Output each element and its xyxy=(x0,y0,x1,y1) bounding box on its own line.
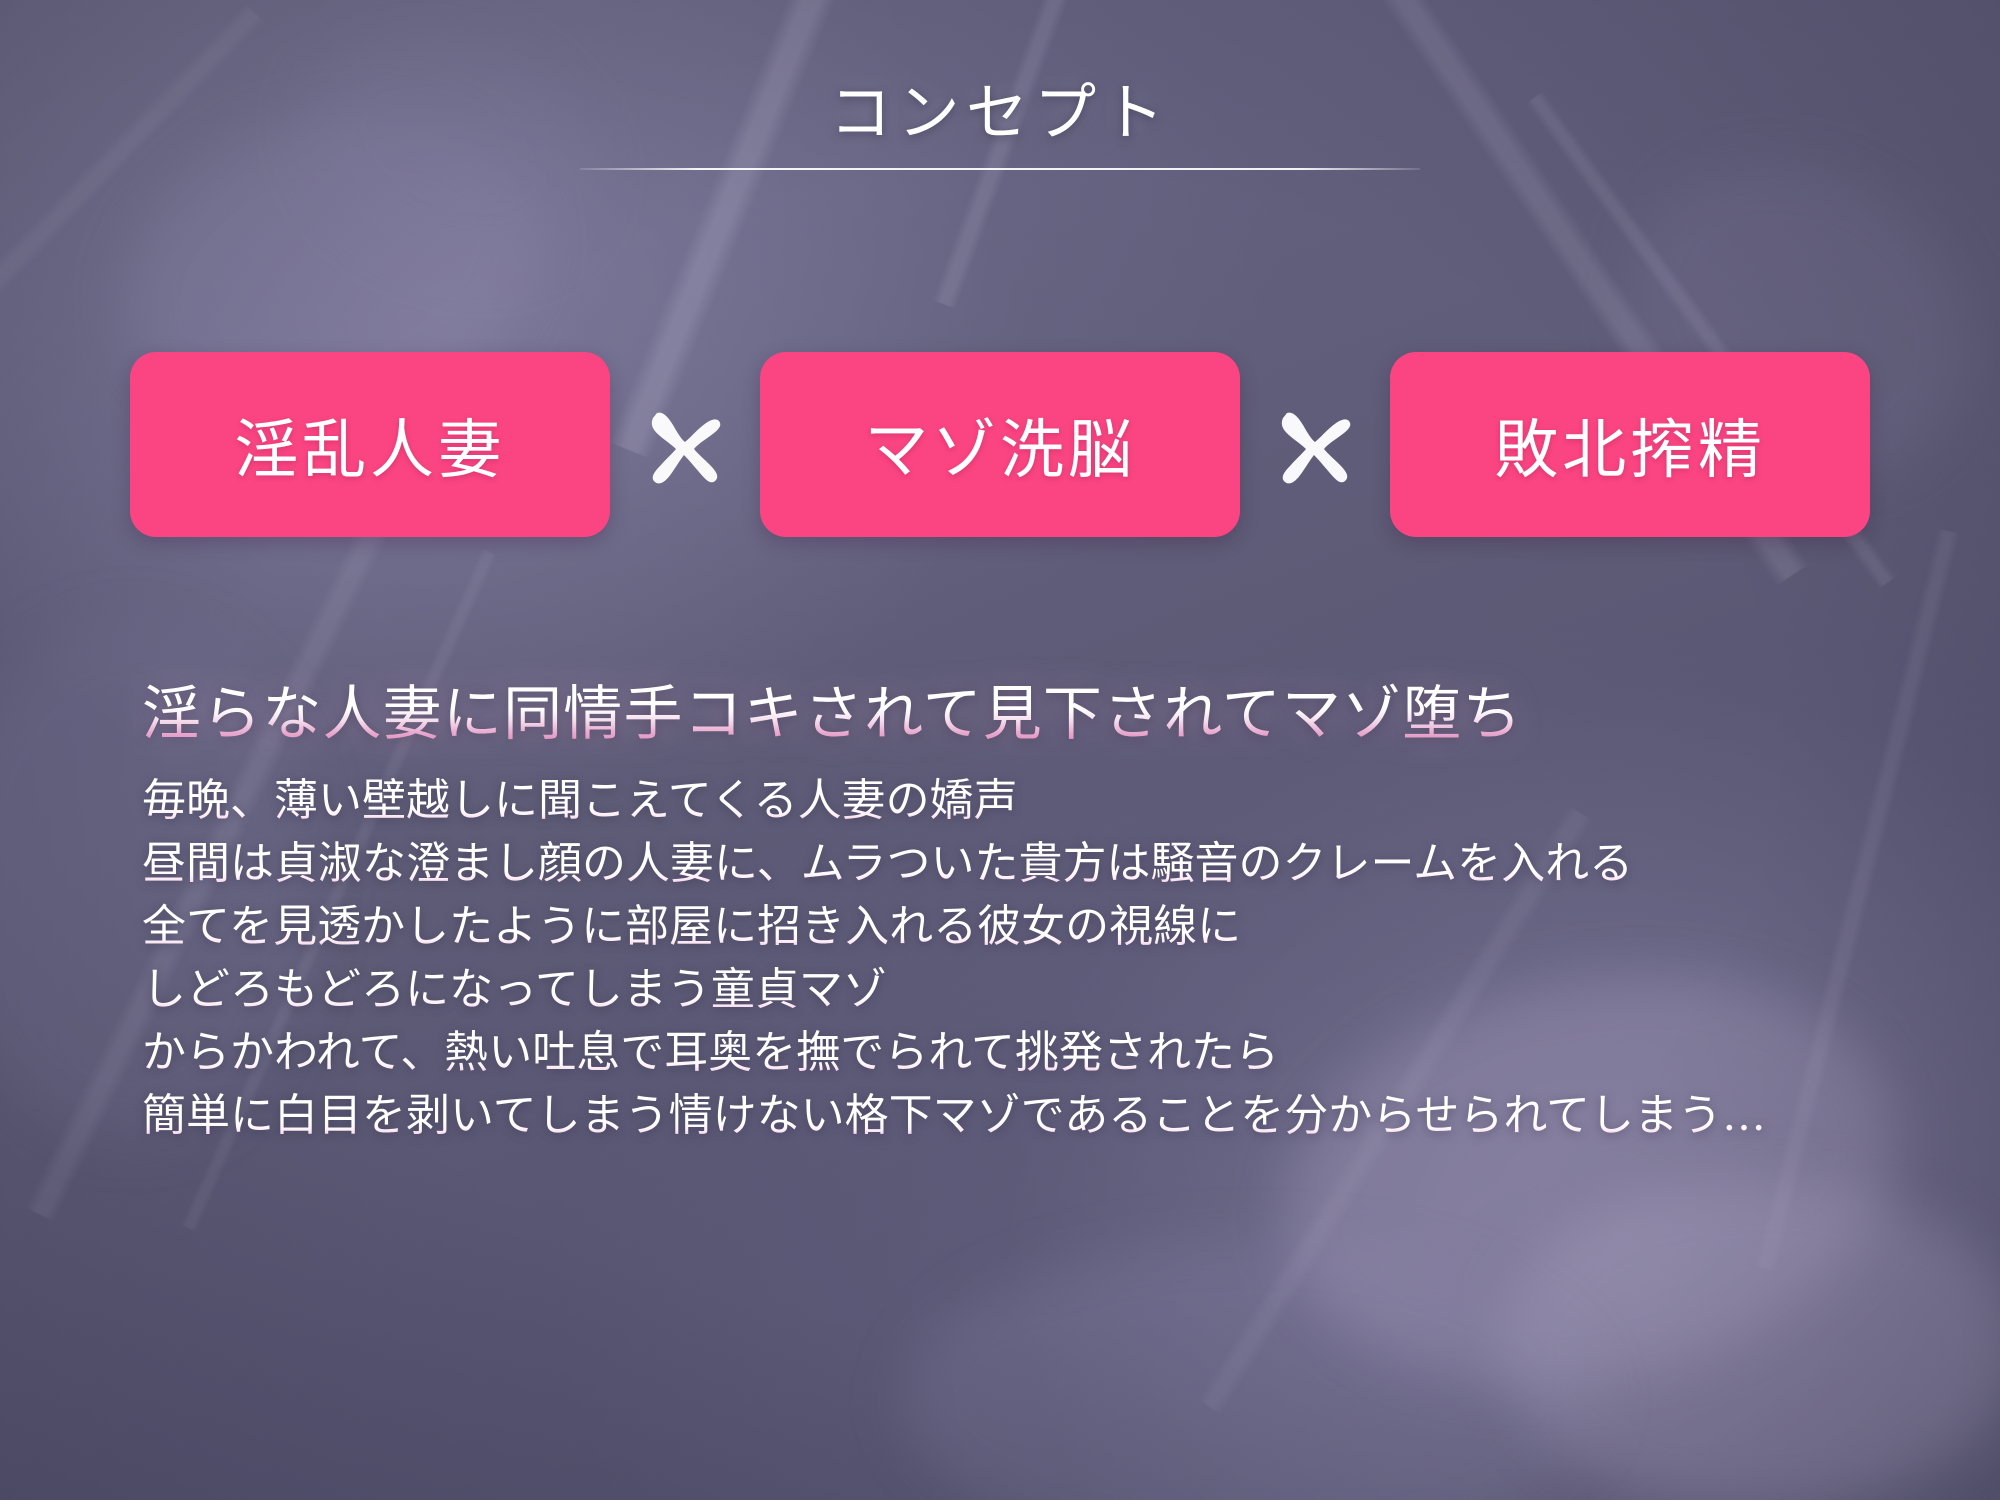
concept-tag-1-label: 淫乱人妻 xyxy=(234,399,505,491)
concept-tag-3[interactable]: 敗北搾精 xyxy=(1390,352,1870,537)
synopsis-block: 淫らな人妻に同情手コキされて見下されてマゾ堕ち 毎晩、薄い壁越しに聞こえてくる人… xyxy=(142,680,1880,1148)
title-divider xyxy=(580,168,1420,170)
synopsis-line-4: しどろもどろになってしまう童貞マゾ xyxy=(142,959,1880,1022)
concept-tag-3-label: 敗北搾精 xyxy=(1494,399,1765,491)
synopsis-line-2: 昼間は貞淑な澄まし顔の人妻に、ムラついた貴方は騒音のクレームを入れる xyxy=(142,833,1880,896)
page-header: コンセプト xyxy=(0,62,2000,170)
concept-tag-2[interactable]: マゾ洗脳 xyxy=(760,352,1240,537)
synopsis-line-5: からかわれて、熱い吐息で耳奥を撫でられて挑発されたら xyxy=(142,1022,1880,1085)
tag-separator-2 xyxy=(1240,397,1390,493)
page-title: コンセプト xyxy=(829,62,1170,152)
synopsis-line-1: 毎晩、薄い壁越しに聞こえてくる人妻の嬌声 xyxy=(142,770,1880,833)
multiply-cross-icon xyxy=(637,397,733,493)
concept-tag-1[interactable]: 淫乱人妻 xyxy=(130,352,610,537)
tag-separator-1 xyxy=(610,397,760,493)
multiply-cross-icon xyxy=(1267,397,1363,493)
synopsis-lead: 淫らな人妻に同情手コキされて見下されてマゾ堕ち xyxy=(142,680,1880,748)
synopsis-line-3: 全てを見透かしたように部屋に招き入れる彼女の視線に xyxy=(142,896,1880,959)
synopsis-line-6: 簡単に白目を剥いてしまう情けない格下マゾであることを分からせられてしまう… xyxy=(142,1085,1880,1148)
concept-tag-row: 淫乱人妻 マゾ洗脳 敗北搾精 xyxy=(0,352,2000,537)
concept-tag-2-label: マゾ洗脳 xyxy=(864,399,1135,491)
